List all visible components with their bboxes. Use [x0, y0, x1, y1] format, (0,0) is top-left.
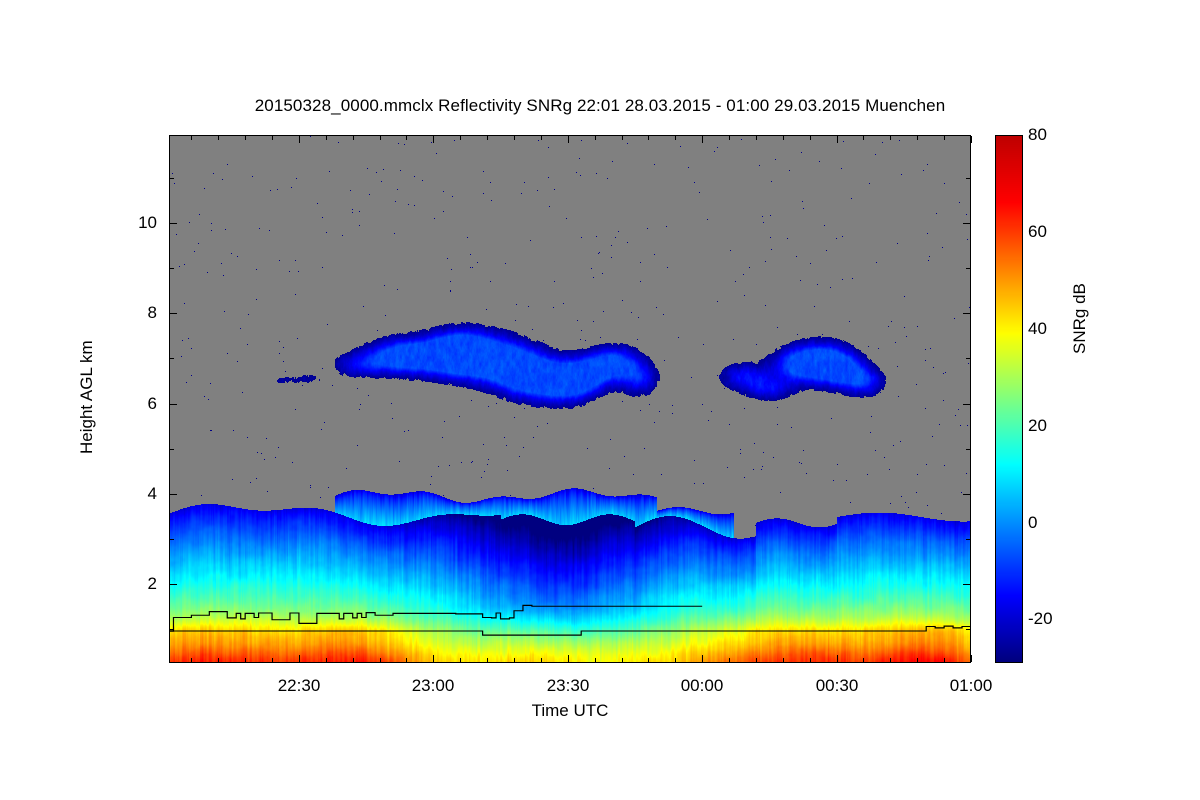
colorbar-tick-label: -20: [1028, 609, 1053, 629]
colorbar-gradient: [996, 136, 1022, 662]
x-tick-minor-top: [863, 136, 864, 140]
x-tick-major-top: [433, 136, 434, 143]
x-tick-major: [568, 655, 569, 662]
y-tick-major: [170, 404, 177, 405]
x-tick-minor-top: [595, 136, 596, 140]
colorbar-title: SNRg dB: [1070, 283, 1090, 354]
y-tick-major: [170, 313, 177, 314]
y-tick-minor-right: [966, 539, 970, 540]
y-tick-major-right: [963, 313, 970, 314]
colorbar-tick-label: 40: [1028, 319, 1047, 339]
y-tick-label: 2: [97, 574, 157, 594]
x-tick-minor: [622, 658, 623, 662]
x-tick-minor-top: [648, 136, 649, 140]
x-tick-minor-top: [622, 136, 623, 140]
x-tick-minor: [218, 658, 219, 662]
x-tick-minor: [675, 658, 676, 662]
x-tick-label: 23:00: [412, 676, 455, 696]
x-tick-minor-top: [326, 136, 327, 140]
x-tick-minor-top: [514, 136, 515, 140]
x-tick-minor: [487, 658, 488, 662]
x-tick-major: [971, 655, 972, 662]
colorbar-tick-label: 20: [1028, 416, 1047, 436]
x-tick-minor-top: [890, 136, 891, 140]
x-tick-minor: [272, 658, 273, 662]
x-tick-major-top: [837, 136, 838, 143]
x-tick-minor: [890, 658, 891, 662]
y-tick-minor: [170, 268, 174, 269]
x-tick-label: 00:30: [816, 676, 859, 696]
x-tick-major-top: [299, 136, 300, 143]
x-tick-minor-top: [460, 136, 461, 140]
y-tick-major-right: [963, 584, 970, 585]
x-tick-minor-top: [191, 136, 192, 140]
x-tick-major-top: [971, 136, 972, 143]
x-axis-title: Time UTC: [532, 701, 609, 721]
colorbar-tick-label: 80: [1028, 125, 1047, 145]
x-tick-label: 22:30: [278, 676, 321, 696]
y-tick-minor-right: [966, 178, 970, 179]
colorbar-tick-label: 0: [1028, 513, 1037, 533]
x-tick-minor: [917, 658, 918, 662]
x-tick-minor-top: [218, 136, 219, 140]
x-tick-major: [299, 655, 300, 662]
x-tick-minor: [406, 658, 407, 662]
x-tick-major: [433, 655, 434, 662]
x-tick-label: 01:00: [950, 676, 993, 696]
x-tick-minor: [380, 658, 381, 662]
x-tick-minor: [756, 658, 757, 662]
y-tick-minor-right: [966, 629, 970, 630]
y-tick-minor: [170, 629, 174, 630]
y-tick-minor: [170, 358, 174, 359]
y-tick-minor-right: [966, 358, 970, 359]
y-tick-minor-right: [966, 449, 970, 450]
y-tick-label: 4: [97, 484, 157, 504]
y-tick-minor: [170, 449, 174, 450]
x-tick-minor-top: [675, 136, 676, 140]
figure-canvas: 20150328_0000.mmclx Reflectivity SNRg 22…: [0, 0, 1200, 800]
y-tick-minor: [170, 178, 174, 179]
y-tick-major-right: [963, 404, 970, 405]
x-tick-minor: [783, 658, 784, 662]
x-tick-minor: [810, 658, 811, 662]
x-tick-minor-top: [406, 136, 407, 140]
x-tick-minor-top: [487, 136, 488, 140]
y-tick-label: 8: [97, 303, 157, 323]
x-tick-minor: [353, 658, 354, 662]
x-tick-minor-top: [944, 136, 945, 140]
y-tick-label: 6: [97, 394, 157, 414]
y-tick-minor-right: [966, 268, 970, 269]
x-tick-major: [702, 655, 703, 662]
colorbar-tick-label: 60: [1028, 222, 1047, 242]
y-axis-title: Height AGL km: [77, 340, 97, 454]
y-tick-major-right: [963, 223, 970, 224]
x-tick-minor-top: [810, 136, 811, 140]
x-tick-major-top: [702, 136, 703, 143]
y-tick-minor: [170, 539, 174, 540]
figure-title: 20150328_0000.mmclx Reflectivity SNRg 22…: [0, 96, 1200, 116]
x-tick-minor-top: [756, 136, 757, 140]
heatmap-canvas: [169, 135, 971, 663]
x-tick-minor-top: [353, 136, 354, 140]
x-tick-major: [837, 655, 838, 662]
x-tick-minor-top: [729, 136, 730, 140]
x-tick-minor-top: [917, 136, 918, 140]
x-tick-minor: [595, 658, 596, 662]
x-tick-minor: [245, 658, 246, 662]
y-tick-major: [170, 223, 177, 224]
x-tick-label: 23:30: [547, 676, 590, 696]
x-tick-minor: [326, 658, 327, 662]
x-tick-minor-top: [380, 136, 381, 140]
y-tick-major-right: [963, 494, 970, 495]
x-tick-minor-top: [245, 136, 246, 140]
x-tick-minor-top: [272, 136, 273, 140]
x-tick-minor: [944, 658, 945, 662]
x-tick-minor: [648, 658, 649, 662]
y-tick-major: [170, 494, 177, 495]
radar-heatmap-plot: [169, 135, 971, 663]
y-tick-major: [170, 584, 177, 585]
y-tick-label: 10: [97, 213, 157, 233]
x-tick-minor: [729, 658, 730, 662]
x-tick-minor: [460, 658, 461, 662]
x-tick-label: 00:00: [681, 676, 724, 696]
colorbar: [995, 135, 1023, 663]
x-tick-minor: [191, 658, 192, 662]
x-tick-minor: [514, 658, 515, 662]
x-tick-minor-top: [541, 136, 542, 140]
x-tick-minor: [541, 658, 542, 662]
x-tick-major-top: [568, 136, 569, 143]
x-tick-minor-top: [783, 136, 784, 140]
x-tick-minor: [863, 658, 864, 662]
